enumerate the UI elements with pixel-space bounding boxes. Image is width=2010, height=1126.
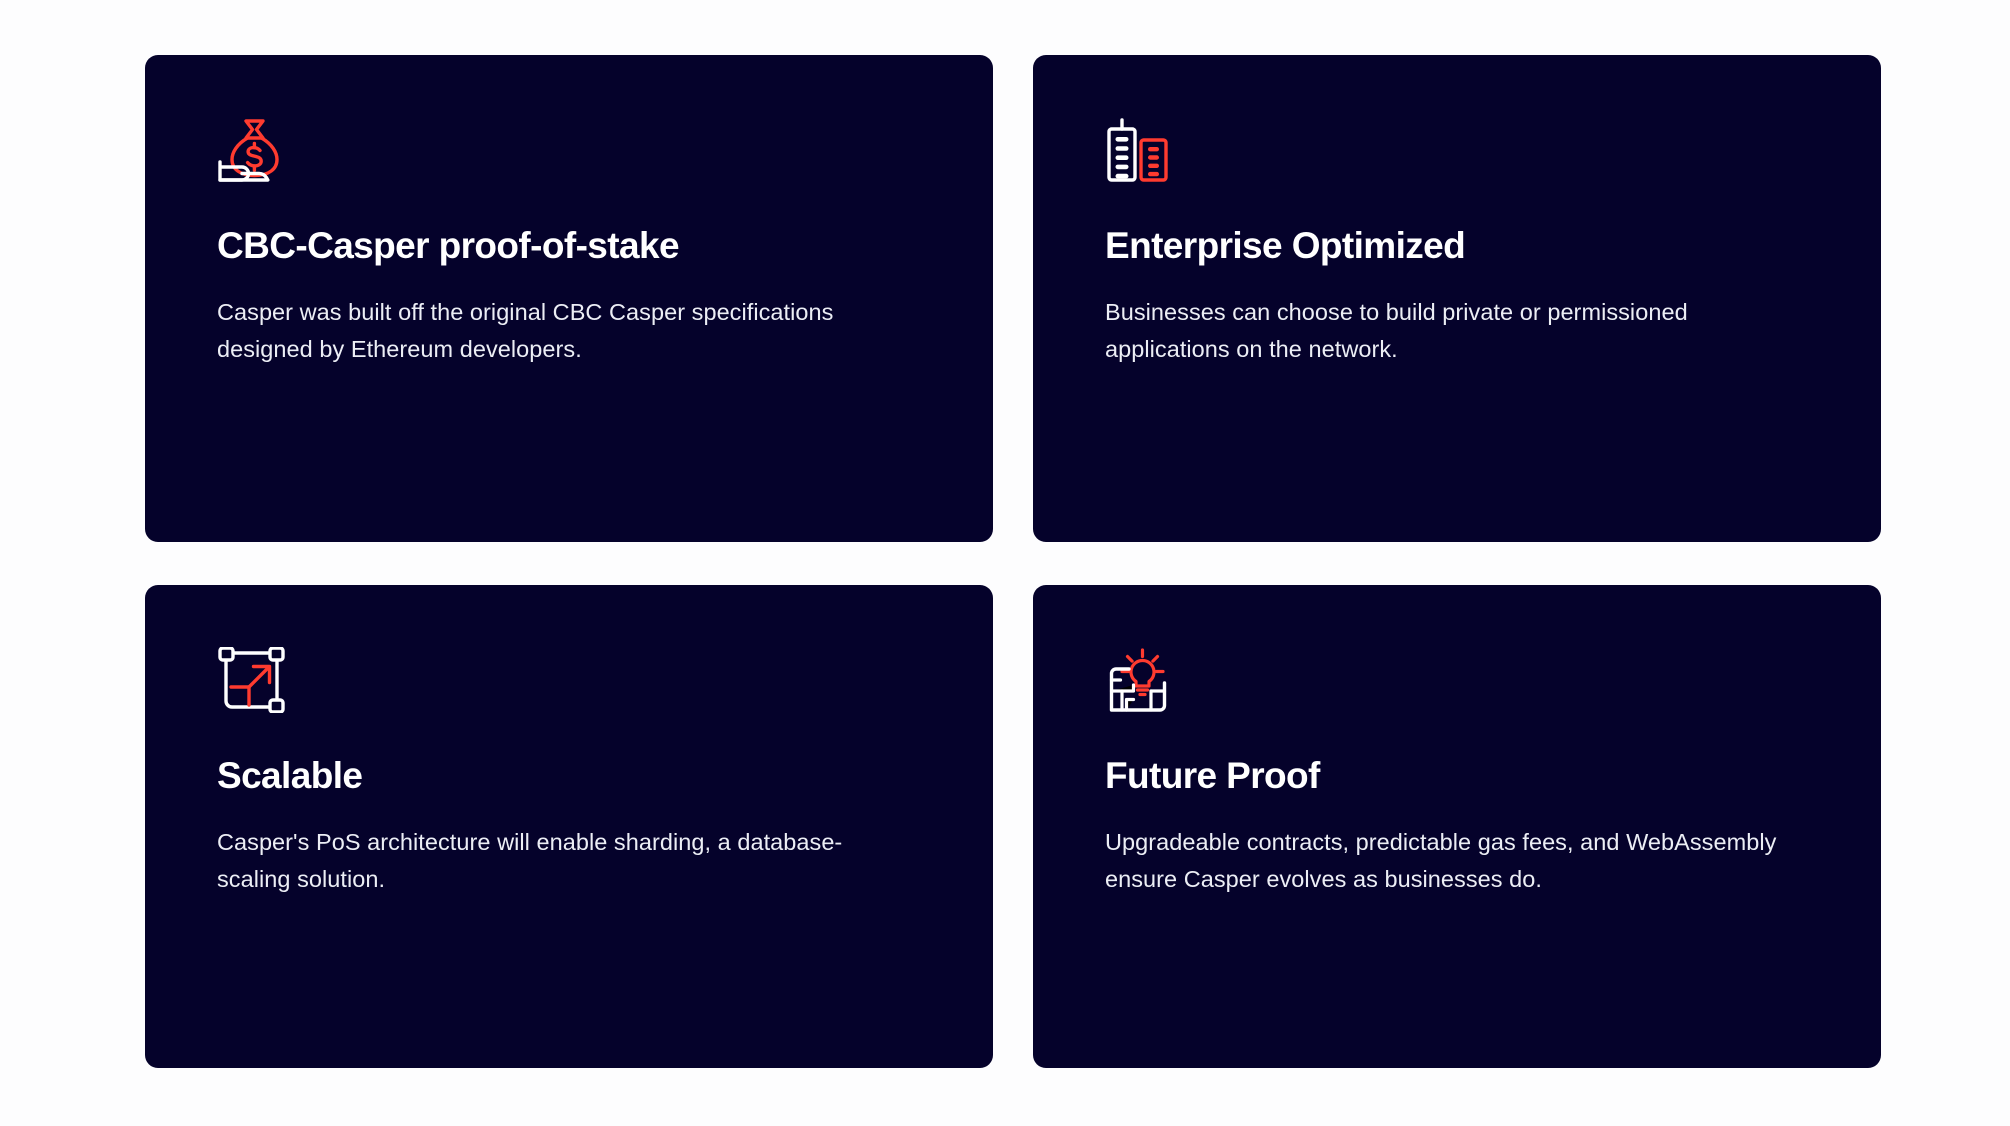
features-grid: CBC-Casper proof-of-stake Casper was bui…	[145, 55, 1870, 1068]
feature-card-enterprise-optimized[interactable]: Enterprise Optimized Businesses can choo…	[1033, 55, 1881, 542]
feature-card-title: Enterprise Optimized	[1105, 225, 1809, 266]
feature-card-description: Businesses can choose to build private o…	[1105, 294, 1785, 367]
feature-card-title: Future Proof	[1105, 755, 1809, 796]
feature-card-title: CBC-Casper proof-of-stake	[217, 225, 921, 266]
feature-card-description: Casper's PoS architecture will enable sh…	[217, 824, 897, 897]
feature-card-description: Upgradeable contracts, predictable gas f…	[1105, 824, 1785, 897]
feature-card-cbc-casper-proof-of-stake[interactable]: CBC-Casper proof-of-stake Casper was bui…	[145, 55, 993, 542]
lightbulb-circuit-icon	[1105, 647, 1179, 713]
feature-card-scalable[interactable]: Scalable Casper's PoS architecture will …	[145, 585, 993, 1068]
buildings-icon	[1105, 117, 1179, 183]
feature-card-future-proof[interactable]: Future Proof Upgradeable contracts, pred…	[1033, 585, 1881, 1068]
money-bag-hand-icon	[217, 117, 291, 183]
feature-card-title: Scalable	[217, 755, 921, 796]
feature-card-description: Casper was built off the original CBC Ca…	[217, 294, 897, 367]
scale-arrow-icon	[217, 647, 291, 713]
